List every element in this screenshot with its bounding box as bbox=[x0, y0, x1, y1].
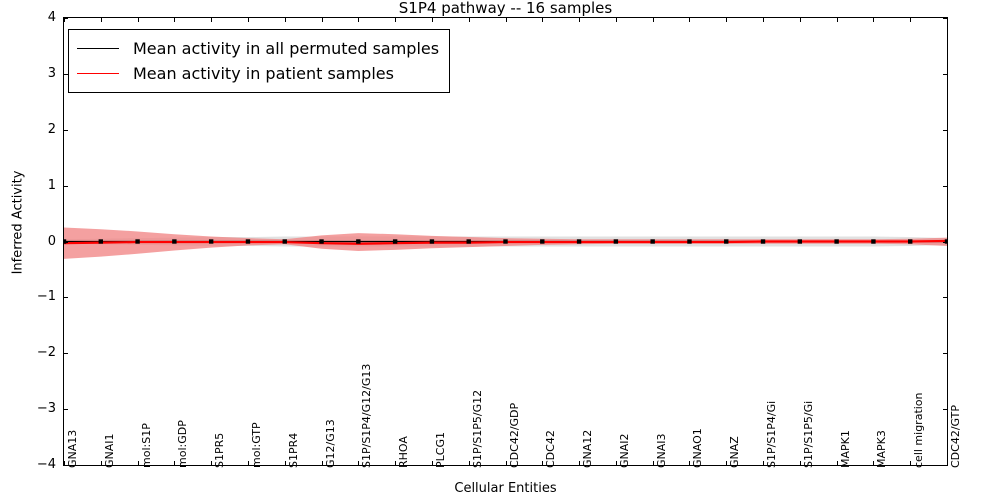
y-tick-label: 3 bbox=[16, 67, 56, 80]
series-marker bbox=[687, 239, 691, 243]
series-marker bbox=[908, 239, 912, 243]
series-marker bbox=[798, 239, 802, 243]
legend-line-icon bbox=[77, 48, 119, 49]
x-tick-mark bbox=[101, 461, 102, 465]
series-marker bbox=[209, 239, 213, 243]
y-tick-mark bbox=[64, 297, 68, 298]
series-marker bbox=[650, 239, 654, 243]
y-tick-label: −3 bbox=[16, 402, 56, 415]
series-marker bbox=[99, 239, 103, 243]
x-tick-label: mol:GDP bbox=[177, 420, 188, 468]
series-marker bbox=[467, 239, 471, 243]
x-tick-label: mol:S1P bbox=[141, 423, 152, 468]
y-tick-mark bbox=[943, 130, 947, 131]
x-tick-mark bbox=[689, 18, 690, 22]
legend-label: Mean activity in patient samples bbox=[133, 64, 394, 83]
chart-figure: S1P4 pathway -- 16 samples Inferred Acti… bbox=[0, 0, 1000, 500]
y-tick-mark bbox=[64, 353, 68, 354]
legend-line-icon bbox=[77, 73, 119, 74]
x-tick-mark bbox=[395, 461, 396, 465]
chart-title: S1P4 pathway -- 16 samples bbox=[63, 0, 948, 17]
x-tick-label: GNA12 bbox=[582, 430, 593, 468]
x-tick-mark bbox=[506, 18, 507, 22]
x-tick-mark bbox=[542, 18, 543, 22]
x-tick-mark bbox=[837, 18, 838, 22]
x-tick-mark bbox=[285, 461, 286, 465]
y-tick-mark bbox=[943, 74, 947, 75]
x-tick-mark bbox=[579, 18, 580, 22]
x-tick-label: GNAI2 bbox=[619, 433, 630, 468]
x-tick-label: GNAI1 bbox=[104, 433, 115, 468]
series-marker bbox=[834, 239, 838, 243]
chart-legend: Mean activity in all permuted samplesMea… bbox=[68, 29, 450, 93]
y-tick-mark bbox=[943, 465, 947, 466]
series-marker bbox=[540, 239, 544, 243]
x-tick-label: CDC42 bbox=[545, 430, 556, 468]
x-tick-mark bbox=[211, 18, 212, 22]
x-tick-mark bbox=[174, 18, 175, 22]
y-tick-label: 1 bbox=[16, 179, 56, 192]
series-marker bbox=[283, 239, 287, 243]
y-tick-mark bbox=[64, 242, 68, 243]
y-tick-label: −2 bbox=[16, 346, 56, 359]
x-tick-mark bbox=[800, 461, 801, 465]
x-tick-mark bbox=[138, 461, 139, 465]
x-tick-mark bbox=[653, 18, 654, 22]
y-tick-label: 4 bbox=[16, 11, 56, 24]
x-tick-mark bbox=[138, 18, 139, 22]
x-tick-label: S1PR4 bbox=[288, 433, 299, 468]
series-marker bbox=[577, 239, 581, 243]
x-tick-mark bbox=[873, 18, 874, 22]
x-tick-label: S1P/S1P5/G12 bbox=[472, 390, 483, 468]
x-tick-mark bbox=[653, 461, 654, 465]
x-tick-label: MAPK3 bbox=[876, 430, 887, 468]
series-marker bbox=[724, 239, 728, 243]
series-marker bbox=[761, 239, 765, 243]
x-tick-mark bbox=[616, 461, 617, 465]
x-tick-mark bbox=[248, 461, 249, 465]
series-marker bbox=[246, 239, 250, 243]
x-tick-mark bbox=[101, 18, 102, 22]
series-marker bbox=[614, 239, 618, 243]
y-tick-mark bbox=[943, 353, 947, 354]
x-tick-mark bbox=[837, 461, 838, 465]
x-axis-label: Cellular Entities bbox=[63, 481, 948, 496]
x-tick-label: S1PR5 bbox=[214, 433, 225, 468]
series-marker bbox=[503, 239, 507, 243]
y-tick-label: −4 bbox=[16, 458, 56, 471]
x-tick-label: GNA13 bbox=[67, 430, 78, 468]
x-tick-label: PLCG1 bbox=[435, 432, 446, 468]
x-tick-label: cell migration bbox=[913, 392, 924, 468]
x-tick-label: RHOA bbox=[398, 436, 409, 468]
x-tick-mark bbox=[211, 461, 212, 465]
y-tick-mark bbox=[943, 242, 947, 243]
x-tick-mark bbox=[800, 18, 801, 22]
x-tick-mark bbox=[432, 18, 433, 22]
x-tick-label: GNAI3 bbox=[656, 433, 667, 468]
y-tick-mark bbox=[64, 130, 68, 131]
x-tick-mark bbox=[248, 18, 249, 22]
y-tick-label: −1 bbox=[16, 290, 56, 303]
series-marker bbox=[430, 239, 434, 243]
x-tick-label: MAPK1 bbox=[840, 430, 851, 468]
series-marker bbox=[356, 239, 360, 243]
x-tick-mark bbox=[469, 18, 470, 22]
series-marker bbox=[871, 239, 875, 243]
x-tick-mark bbox=[285, 18, 286, 22]
legend-entry[interactable]: Mean activity in patient samples bbox=[77, 61, 439, 86]
x-tick-mark bbox=[947, 461, 948, 465]
y-tick-mark bbox=[943, 186, 947, 187]
x-tick-mark bbox=[469, 461, 470, 465]
legend-entry[interactable]: Mean activity in all permuted samples bbox=[77, 36, 439, 61]
series-marker bbox=[319, 239, 323, 243]
x-tick-label: GNAO1 bbox=[692, 428, 703, 468]
x-tick-label: S1P/S1P4/Gi bbox=[766, 401, 777, 468]
x-tick-mark bbox=[726, 18, 727, 22]
x-tick-mark bbox=[64, 461, 65, 465]
y-tick-mark bbox=[943, 297, 947, 298]
x-tick-mark bbox=[432, 461, 433, 465]
x-tick-label: S1P/S1P5/Gi bbox=[803, 401, 814, 468]
x-tick-mark bbox=[322, 461, 323, 465]
x-tick-mark bbox=[395, 18, 396, 22]
x-tick-mark bbox=[322, 18, 323, 22]
series-marker bbox=[393, 239, 397, 243]
x-tick-label: mol:GTP bbox=[251, 422, 262, 468]
x-tick-mark bbox=[947, 18, 948, 22]
x-tick-mark bbox=[910, 18, 911, 22]
y-tick-mark bbox=[943, 409, 947, 410]
x-tick-mark bbox=[616, 18, 617, 22]
x-tick-mark bbox=[579, 461, 580, 465]
series-marker bbox=[172, 239, 176, 243]
y-tick-label: 0 bbox=[16, 235, 56, 248]
y-tick-label: 2 bbox=[16, 123, 56, 136]
y-axis-tick-labels: −4−3−2−101234 bbox=[12, 17, 56, 466]
x-tick-label: G12/G13 bbox=[325, 419, 336, 468]
x-tick-label: CDC42/GTP bbox=[950, 405, 961, 468]
legend-label: Mean activity in all permuted samples bbox=[133, 39, 439, 58]
x-tick-label: S1P/S1P4/G12/G13 bbox=[361, 364, 372, 468]
x-tick-mark bbox=[763, 461, 764, 465]
x-tick-label: GNAZ bbox=[729, 436, 740, 468]
y-tick-mark bbox=[64, 186, 68, 187]
y-tick-mark bbox=[64, 409, 68, 410]
x-tick-mark bbox=[763, 18, 764, 22]
x-tick-mark bbox=[64, 18, 65, 22]
x-tick-label: CDC42/GDP bbox=[509, 403, 520, 468]
series-marker bbox=[135, 239, 139, 243]
x-tick-mark bbox=[506, 461, 507, 465]
x-tick-mark bbox=[358, 18, 359, 22]
